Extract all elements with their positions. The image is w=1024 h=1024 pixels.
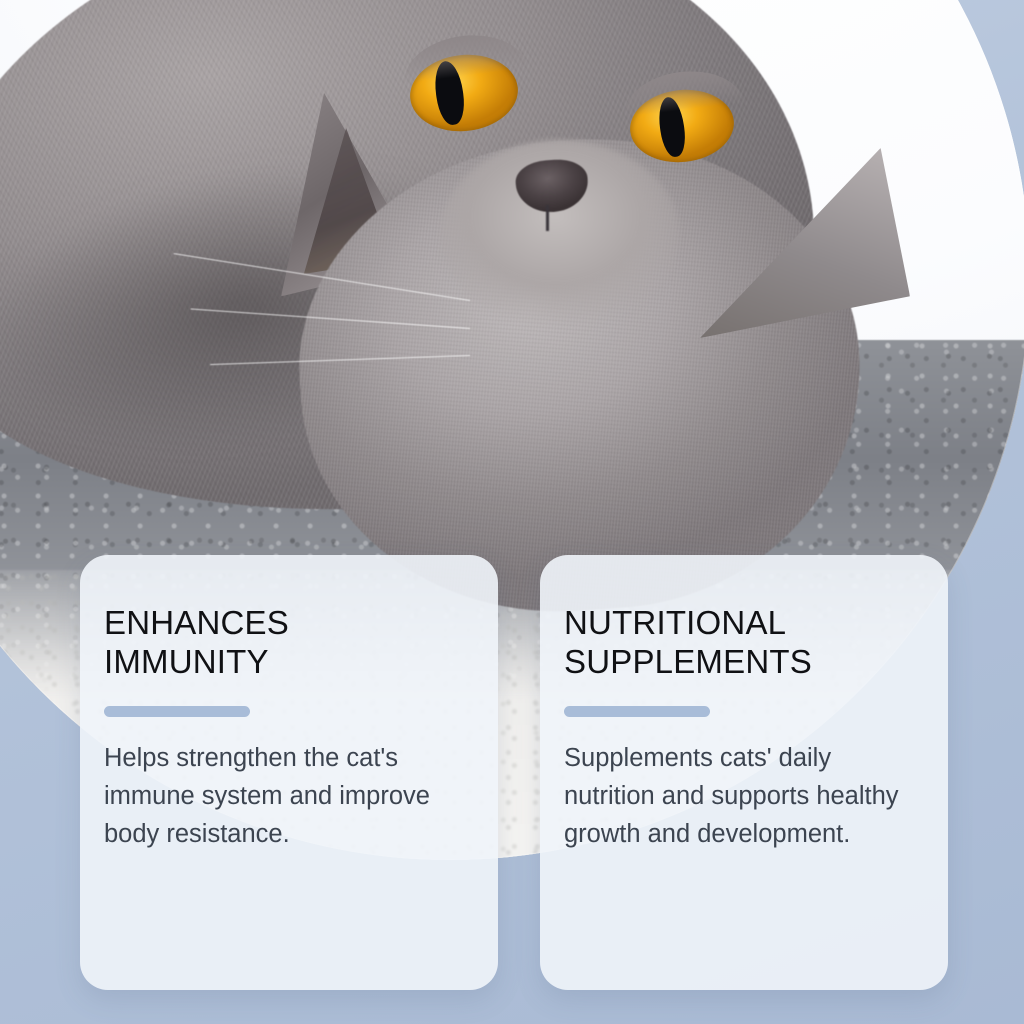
accent-bar (564, 706, 710, 717)
benefit-card-enhances-immunity: ENHANCES IMMUNITY Helps strengthen the c… (80, 555, 498, 990)
card-body-text: Helps strengthen the cat's immune system… (104, 739, 464, 853)
poster-canvas: ENHANCES IMMUNITY Helps strengthen the c… (0, 0, 1024, 1024)
benefit-cards: ENHANCES IMMUNITY Helps strengthen the c… (0, 555, 1024, 995)
benefit-card-nutritional-supplements: NUTRITIONAL SUPPLEMENTS Supplements cats… (540, 555, 948, 990)
cat-nose-slit (546, 205, 549, 231)
accent-bar (104, 706, 250, 717)
card-title: NUTRITIONAL SUPPLEMENTS (564, 603, 914, 681)
card-body-text: Supplements cats' daily nutrition and su… (564, 739, 914, 853)
card-title: ENHANCES IMMUNITY (104, 603, 464, 681)
